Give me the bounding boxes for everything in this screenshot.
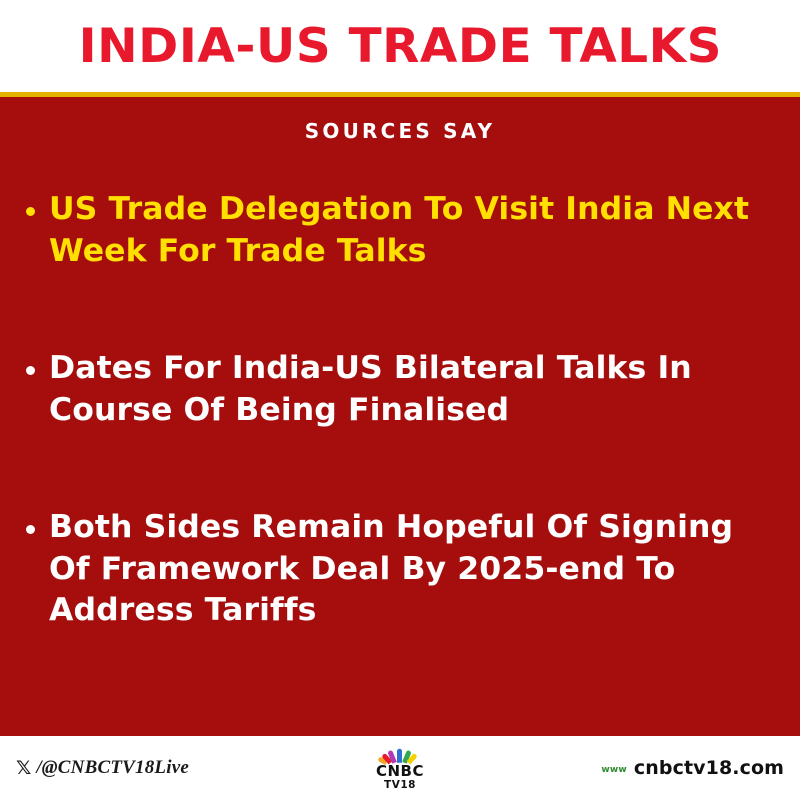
page-title: INDIA-US TRADE TALKS <box>78 23 721 70</box>
news-card: INDIA-US TRADE TALKS SOURCES SAY US Trad… <box>0 0 800 800</box>
header-bar: INDIA-US TRADE TALKS <box>0 0 800 92</box>
bullet-list: US Trade Delegation To Visit India Next … <box>0 189 800 632</box>
bullet-dot-icon <box>26 525 35 534</box>
footer-bar: 𝕏 /@CNBCTV18Live CNBC TV18 www cnbctv18.… <box>0 736 800 800</box>
x-twitter-icon[interactable]: 𝕏 <box>16 759 31 778</box>
list-item: US Trade Delegation To Visit India Next … <box>0 189 800 272</box>
peacock-icon <box>383 746 417 763</box>
list-item: Dates For India-US Bilateral Talks In Co… <box>0 348 800 431</box>
main-content: SOURCES SAY US Trade Delegation To Visit… <box>0 97 800 736</box>
bullet-dot-icon <box>26 366 35 375</box>
brand-logo: CNBC TV18 <box>376 746 424 791</box>
bullet-dot-icon <box>26 207 35 216</box>
social-handle-label: /@CNBCTV18Live <box>36 757 189 779</box>
website-group[interactable]: www cnbctv18.com <box>601 757 784 779</box>
list-item: Both Sides Remain Hopeful Of Signing Of … <box>0 507 800 632</box>
brand-sub-label: TV18 <box>384 780 416 791</box>
website-label[interactable]: cnbctv18.com <box>634 757 784 779</box>
bullet-text: Dates For India-US Bilateral Talks In Co… <box>49 348 754 431</box>
bullet-text: US Trade Delegation To Visit India Next … <box>49 189 754 272</box>
www-icon: www <box>601 761 627 775</box>
brand-name-label: CNBC <box>376 764 424 779</box>
bullet-text: Both Sides Remain Hopeful Of Signing Of … <box>49 507 754 632</box>
social-handle-group[interactable]: 𝕏 /@CNBCTV18Live <box>16 757 189 779</box>
kicker-label: SOURCES SAY <box>0 119 800 143</box>
